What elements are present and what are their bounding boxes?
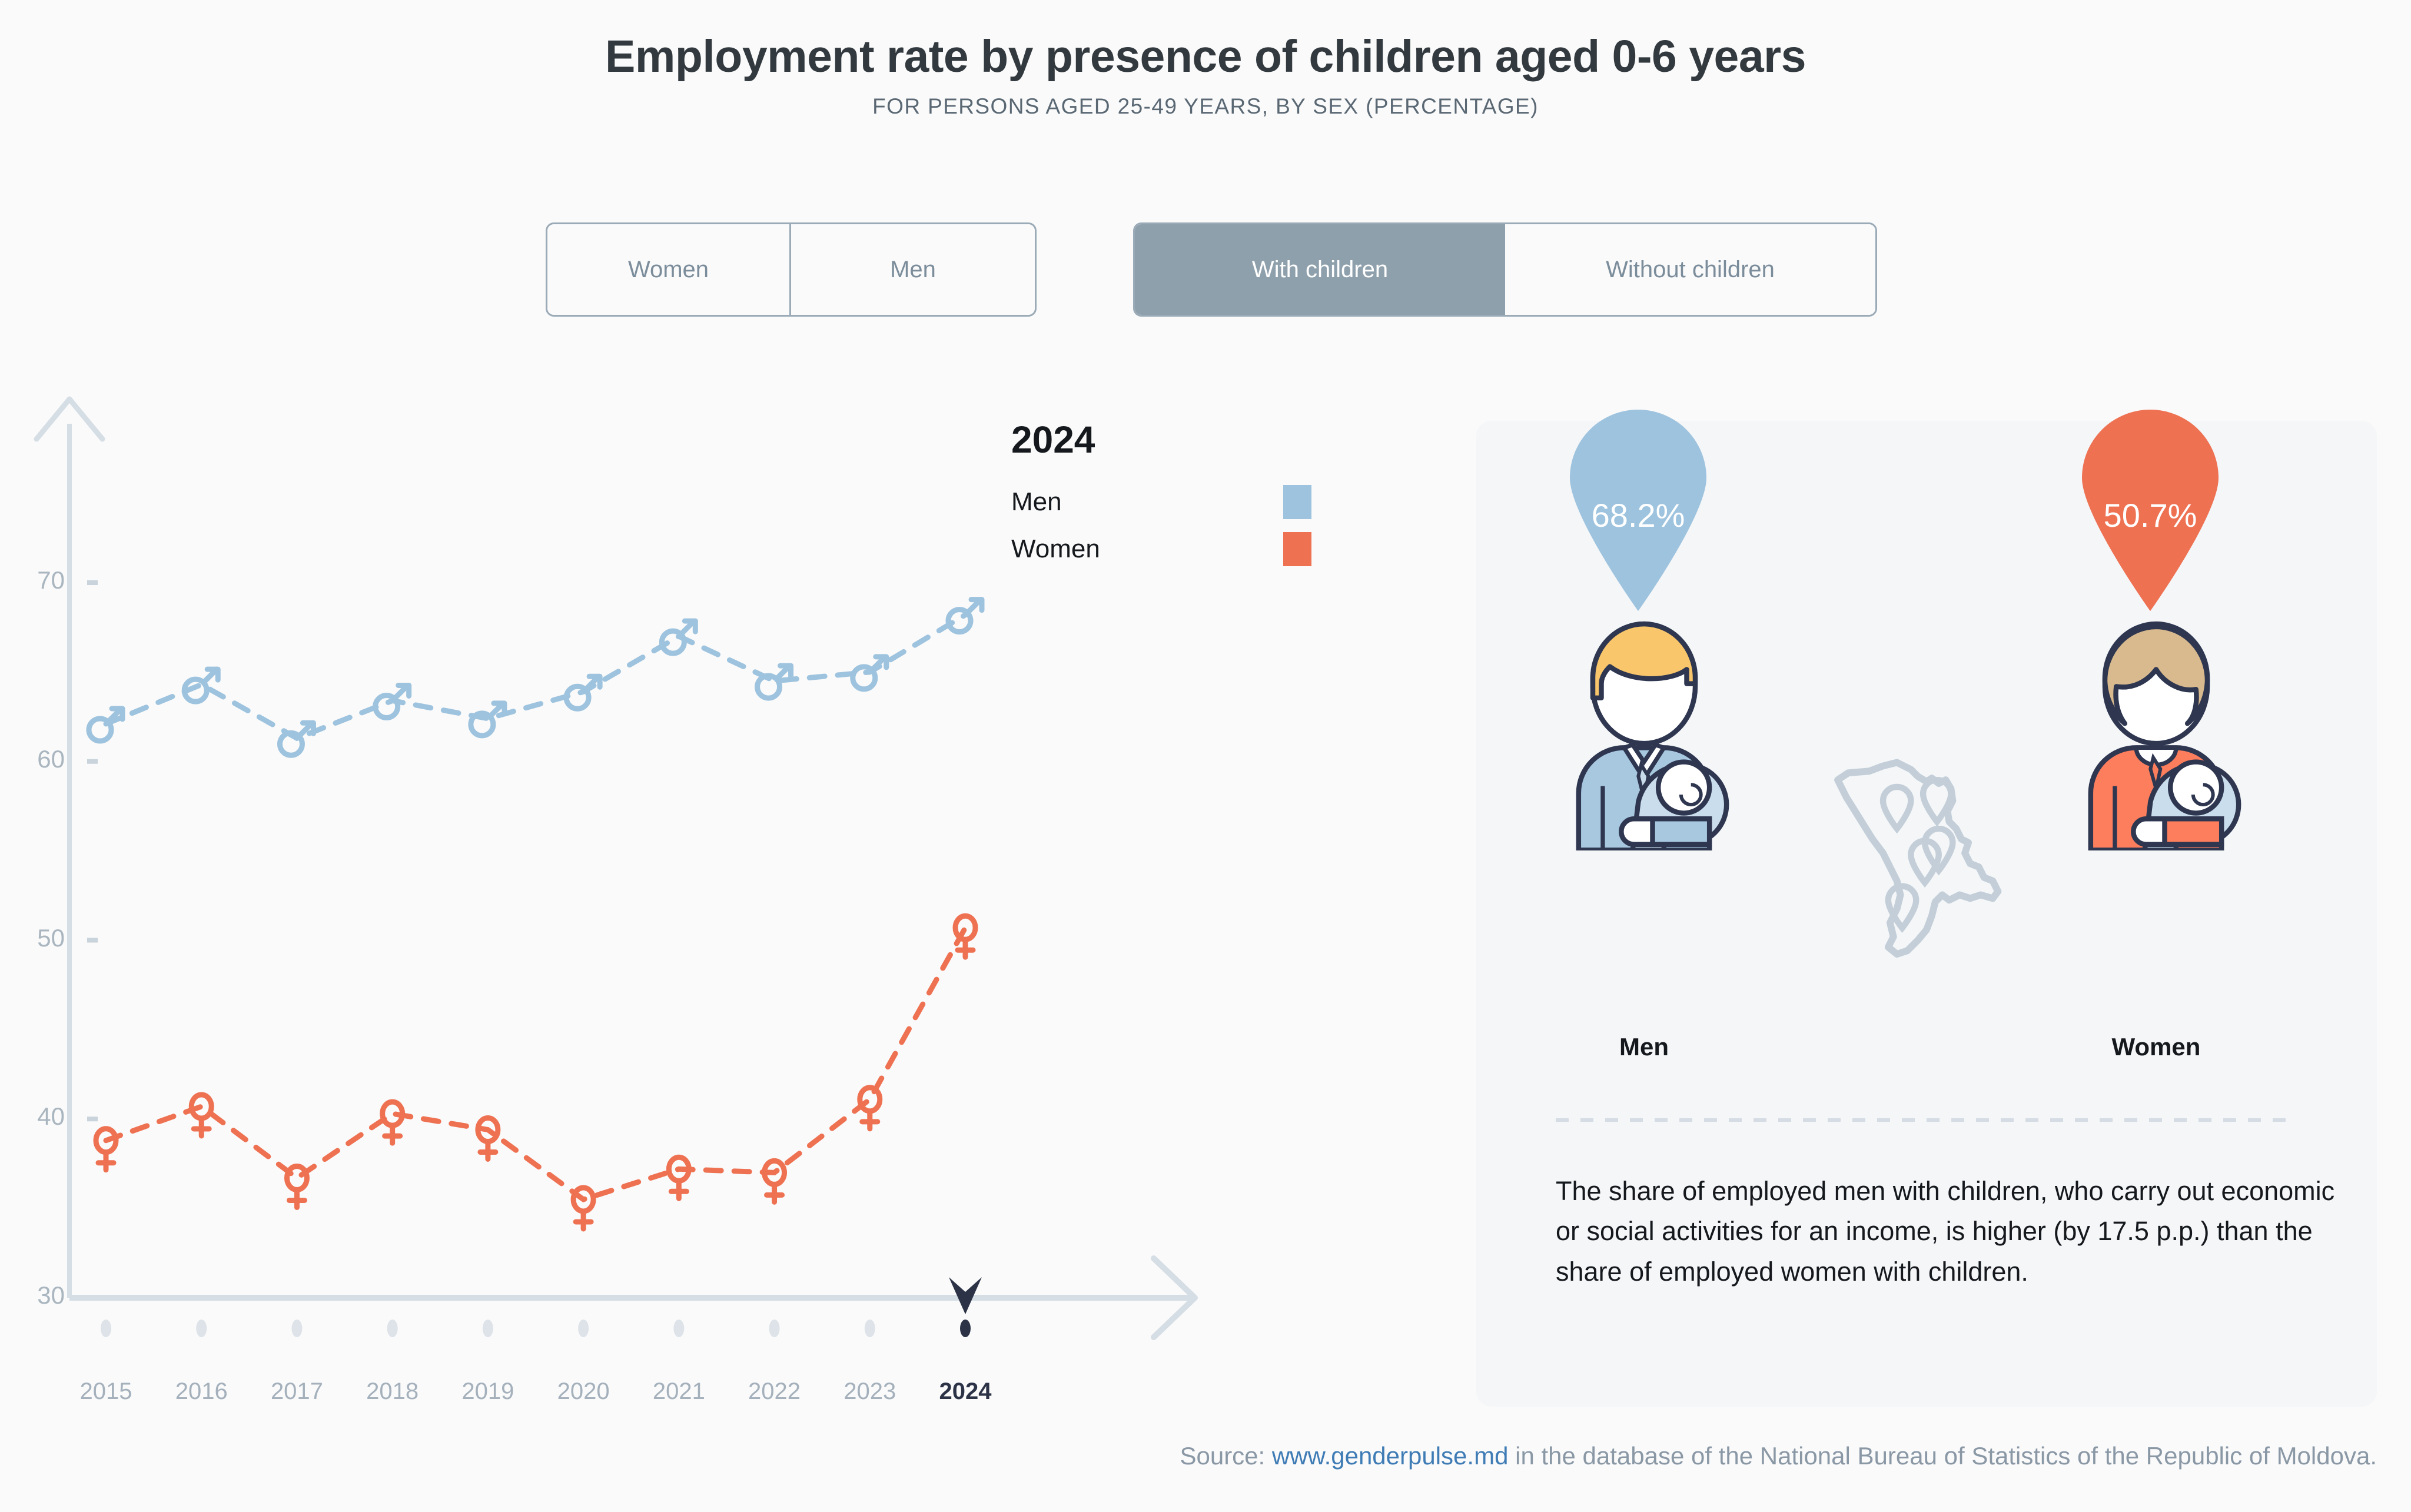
y-axis-tick: 30	[0, 1281, 65, 1310]
y-axis-tick: 50	[0, 924, 65, 952]
men-pin: 68.2%	[1553, 409, 1723, 615]
legend-year: 2024	[1011, 418, 1341, 461]
source-footer: Source: www.genderpulse.md in the databa…	[0, 1442, 2377, 1470]
x-axis-tick[interactable]: 2021	[632, 1378, 726, 1405]
x-axis-tick[interactable]: 2017	[250, 1378, 344, 1405]
x-axis-tick[interactable]: 2016	[154, 1378, 248, 1405]
panel-description: The share of employed men with children,…	[1556, 1171, 2344, 1292]
x-axis-tick[interactable]: 2015	[59, 1378, 153, 1405]
page-subtitle: FOR PERSONS AGED 25-49 YEARS, BY SEX (PE…	[0, 94, 2411, 119]
legend-swatch-men	[1283, 485, 1311, 519]
men-figure-label: Men	[1526, 1033, 1762, 1061]
moldova-map-icon	[1829, 742, 2024, 959]
legend-swatch-women	[1283, 532, 1311, 566]
panel-divider	[1556, 1118, 2297, 1122]
legend-item-women: Women	[1011, 532, 1311, 566]
toggle-men[interactable]: Men	[791, 224, 1035, 315]
women-figure-label: Women	[2038, 1033, 2274, 1061]
y-axis-tick: 40	[0, 1102, 65, 1131]
men-pin-value: 68.2%	[1553, 496, 1723, 534]
x-axis-tick[interactable]: 2019	[441, 1378, 535, 1405]
y-axis-tick: 70	[0, 566, 65, 594]
source-link[interactable]: www.genderpulse.md	[1272, 1442, 1509, 1470]
y-axis-tick: 60	[0, 745, 65, 773]
x-axis-tick[interactable]: 2024	[918, 1378, 1012, 1405]
page-title: Employment rate by presence of children …	[0, 31, 2411, 83]
legend-label-women: Women	[1011, 534, 1100, 564]
legend-item-men: Men	[1011, 485, 1311, 519]
women-pin: 50.7%	[2065, 409, 2236, 615]
x-axis-tick[interactable]: 2018	[346, 1378, 440, 1405]
source-suffix: in the database of the National Bureau o…	[1508, 1442, 2377, 1470]
toggle-women[interactable]: Women	[547, 224, 791, 315]
infographic-page: Employment rate by presence of children …	[0, 0, 2411, 1512]
chart-legend: 2024 Men Women	[1011, 418, 1341, 566]
x-axis-tick[interactable]: 2020	[536, 1378, 630, 1405]
x-axis-tick[interactable]: 2023	[823, 1378, 917, 1405]
x-axis-tick[interactable]: 2022	[728, 1378, 822, 1405]
man-with-baby-icon	[1559, 615, 1729, 850]
woman-with-baby-icon	[2071, 615, 2241, 850]
legend-label-men: Men	[1011, 487, 1062, 517]
toggle-with-children[interactable]: With children	[1135, 224, 1505, 315]
source-prefix: Source:	[1180, 1442, 1271, 1470]
women-pin-value: 50.7%	[2065, 496, 2236, 534]
summary-panel: 68.2% Men	[1476, 421, 2377, 1407]
children-toggle-group[interactable]: With children Without children	[1133, 222, 1877, 317]
toggle-without-children[interactable]: Without children	[1505, 224, 1875, 315]
sex-toggle-group[interactable]: Women Men	[546, 222, 1037, 317]
